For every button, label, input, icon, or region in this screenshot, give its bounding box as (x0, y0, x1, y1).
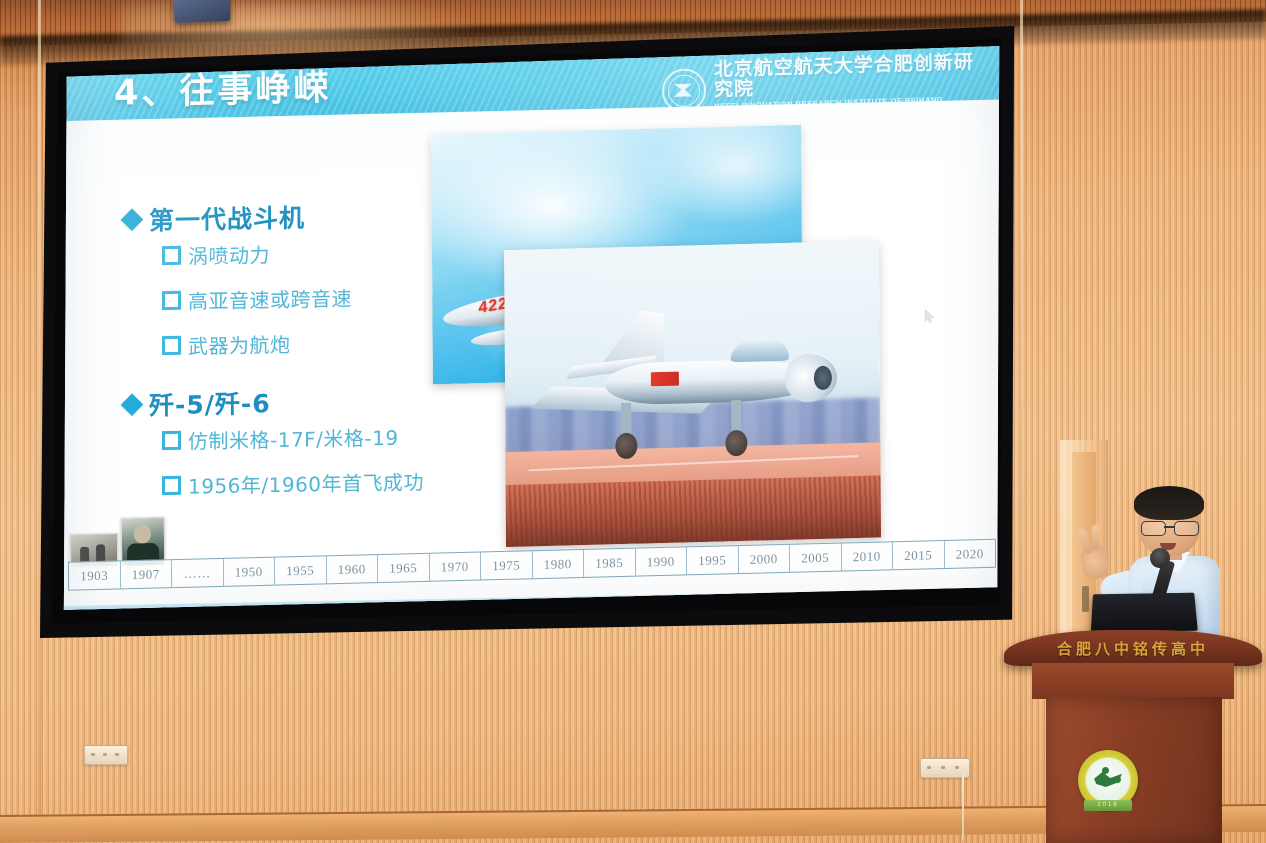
timeline-cell: 1970 (429, 552, 481, 580)
timeline-cell: 1907 (120, 560, 172, 588)
podium-laptop[interactable] (1091, 593, 1198, 633)
timeline-cell: 1975 (481, 551, 533, 579)
timeline-cell: 2000 (738, 545, 790, 573)
speaker-glasses-icon (1141, 521, 1197, 534)
wall-seam-right (1020, 0, 1023, 843)
bullet-heading-2: 歼-5/歼-6 (124, 380, 494, 423)
timeline-cell: …… (172, 559, 224, 587)
sub-bullet-text: 仿制米格-17F/米格-19 (188, 422, 399, 455)
outlet-cable (962, 774, 964, 840)
aircraft-silhouette (534, 306, 835, 464)
institute-logo: 北京航空航天大学合肥创新研究院 HEFEI INNOVATION RESEARC… (662, 58, 993, 114)
wall-outlet-left[interactable] (84, 745, 128, 765)
bullet-heading-text: 歼-5/歼-6 (149, 384, 271, 422)
timeline-cell: 1903 (69, 561, 121, 589)
square-bullet-icon (162, 431, 181, 450)
square-bullet-icon (162, 291, 181, 310)
speaker-hair (1134, 486, 1204, 520)
timeline-cell: 1985 (584, 549, 636, 577)
diamond-bullet-icon (121, 393, 144, 416)
sub-bullet-2-1: 仿制米格-17F/米格-19 (162, 420, 494, 455)
sub-bullet-text: 高亚音速或跨音速 (188, 283, 352, 315)
diamond-bullet-icon (121, 208, 144, 231)
grass-field (506, 475, 881, 547)
timeline-cell: 2005 (790, 544, 842, 572)
crest-inner-circle (1086, 758, 1130, 802)
institute-name-cn: 北京航空航天大学合肥创新研究院 (714, 53, 992, 101)
timeline-cell: 1995 (687, 546, 739, 574)
timeline-cell: 1955 (275, 556, 327, 584)
timeline-cell: 1990 (635, 547, 687, 575)
timeline-cell: 2010 (841, 542, 893, 570)
timeline-cell: 1950 (223, 558, 275, 586)
bullet-heading-text: 第一代战斗机 (149, 198, 305, 237)
sub-bullet-text: 1956年/1960年首飞成功 (188, 466, 424, 499)
institute-emblem-icon (662, 68, 706, 113)
sub-bullet-2-2: 1956年/1960年首飞成功 (162, 465, 494, 500)
sub-bullet-text: 武器为航炮 (188, 329, 291, 360)
wall-seam-left (38, 0, 41, 843)
sub-bullet-text: 涡喷动力 (188, 239, 270, 270)
door-handle[interactable] (1082, 586, 1089, 612)
timeline-cell: 2015 (893, 541, 945, 569)
cloud (636, 125, 803, 229)
timeline-cell: 1965 (378, 554, 430, 582)
photo-jet-on-runway (504, 240, 881, 547)
projector-device (174, 0, 231, 23)
timeline-cell: 1960 (326, 555, 378, 583)
projected-slide[interactable]: 北京航空航天大学合肥创新研究院 HEFEI INNOVATION RESEARC… (62, 45, 1002, 611)
aircraft-insignia (651, 372, 679, 387)
slide-canvas: 北京航空航天大学合肥创新研究院 HEFEI INNOVATION RESEARC… (62, 45, 1002, 611)
crest-year-banner: 2018 (1084, 800, 1132, 811)
mouse-cursor-icon (924, 309, 935, 324)
timeline-cell: 1980 (532, 550, 584, 578)
square-bullet-icon (162, 476, 181, 495)
square-bullet-icon (162, 246, 181, 265)
lecture-hall-scene: 北京航空航天大学合肥创新研究院 HEFEI INNOVATION RESEARC… (0, 0, 1266, 843)
year-timeline: 1903 1907 …… 1950 1955 1960 1965 1970 19… (68, 539, 996, 591)
institute-logo-text: 北京航空航天大学合肥创新研究院 HEFEI INNOVATION RESEARC… (714, 53, 993, 119)
podium-neck (1032, 663, 1234, 699)
podium-school-name: 合肥八中铭传高中 (1030, 638, 1236, 659)
square-bullet-icon (162, 336, 181, 355)
timeline-cell: 2020 (944, 540, 995, 568)
